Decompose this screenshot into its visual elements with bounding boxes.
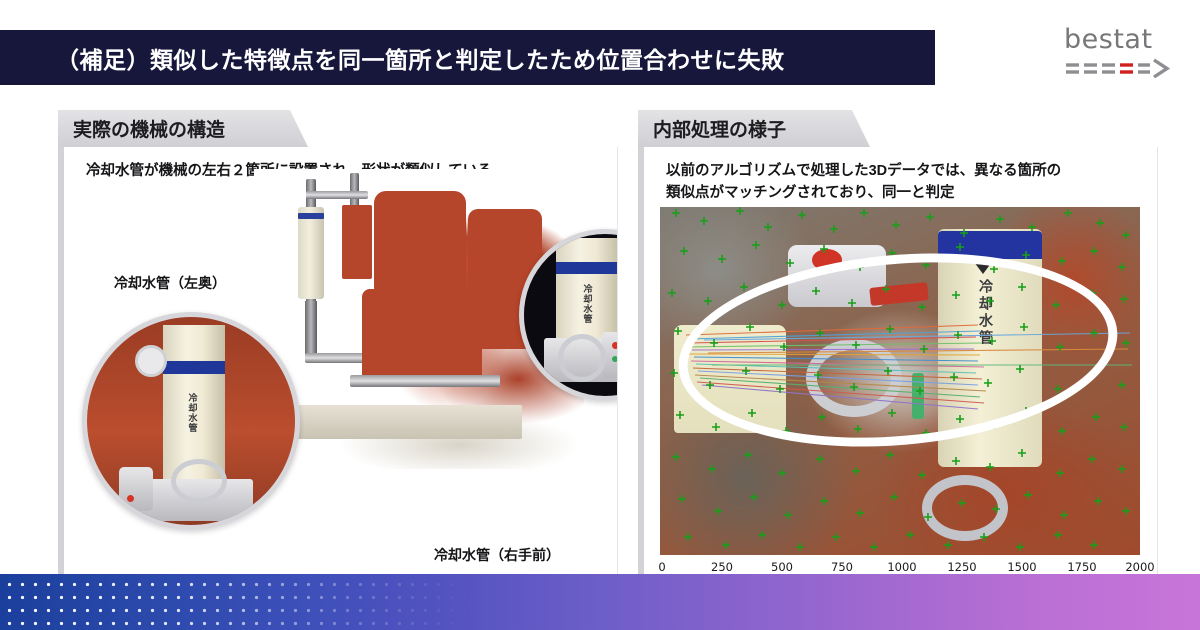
panel-left-tab: 実際の機械の構造 xyxy=(58,110,308,147)
axis-tick-2000: 2000 xyxy=(1125,560,1154,574)
panel-right-note: 以前のアルゴリズムで処理した3Dデータでは、異なる箇所の 類似点がマッチングされ… xyxy=(644,147,1157,205)
panel-internal-processing: 内部処理の様子 以前のアルゴリズムで処理した3Dデータでは、異なる箇所の 類似点… xyxy=(638,110,1158,594)
viewer-tank-kanji: 冷却水管 xyxy=(976,279,996,347)
machine-tank-band xyxy=(298,213,324,219)
viewer-handwheel-b xyxy=(922,475,1008,541)
viewer-red-cap xyxy=(812,249,842,271)
callout-label-left-rear: 冷却水管（左奥） xyxy=(114,273,226,293)
machine-pipe-horizontal-b xyxy=(305,353,365,363)
slide-root: （補足）類似した特徴点を同一箇所と判定したため位置合わせに失敗 bestat xyxy=(0,0,1200,630)
slide-title: （補足）類似した特徴点を同一箇所と判定したため位置合わせに失敗 xyxy=(56,41,785,75)
pointcloud-viewer[interactable]: 冷却水管 xyxy=(660,207,1140,555)
axis-tick-750: 750 xyxy=(831,560,853,574)
machine-base-plate xyxy=(272,405,522,439)
machine-pipe-horizontal-c xyxy=(350,375,500,387)
axis-tick-1250: 1250 xyxy=(947,560,976,574)
machine-red-block-b xyxy=(374,191,466,299)
magnifier-right-handwheel xyxy=(558,334,606,382)
machine-red-block-a xyxy=(342,205,372,279)
machine-photo-composition: 冷却水管 冷却水管 xyxy=(64,147,617,593)
panel-machine-structure: 実際の機械の構造 冷却水管が機械の左右２箇所に設置され、形状が類似している xyxy=(58,110,618,594)
logo-wordmark: bestat xyxy=(1064,26,1176,53)
magnifier-left-tank-kanji: 冷却水管 xyxy=(187,393,196,459)
machine-pipe-horizontal-a xyxy=(306,191,368,199)
brand-logo: bestat xyxy=(1064,26,1176,78)
viewer-tank-right-band xyxy=(938,231,1042,259)
magnifier-left-gauge-icon xyxy=(135,345,167,377)
pointcloud-scene: 冷却水管 xyxy=(660,207,1140,555)
viewer-handwheel-a xyxy=(806,339,902,417)
magnifier-right-content: 冷却水管 xyxy=(524,234,618,396)
axis-tick-1000: 1000 xyxy=(887,560,916,574)
magnifier-left-content: 冷却水管 xyxy=(87,317,295,525)
axis-tick-250: 250 xyxy=(711,560,733,574)
magnifier-right-front: 冷却水管 xyxy=(519,229,618,401)
machine-red-block-c xyxy=(362,289,482,385)
panel-right-body: 以前のアルゴリズムで処理した3Dデータでは、異なる箇所の 類似点がマッチングされ… xyxy=(638,147,1158,594)
machine-pipe-vertical-c xyxy=(305,301,317,361)
magnifier-left-red-indicator xyxy=(127,495,134,502)
panel-right-tab-label: 内部処理の様子 xyxy=(653,115,786,142)
callout-label-right-front: 冷却水管（右手前） xyxy=(434,545,560,565)
axis-tick-1750: 1750 xyxy=(1067,560,1096,574)
magnifier-right-green-indicator xyxy=(612,356,618,362)
axis-tick-500: 500 xyxy=(771,560,793,574)
magnifier-left-tank-band xyxy=(163,361,225,374)
machine-cooling-tank xyxy=(298,207,324,299)
viewer-green-bar xyxy=(912,373,924,419)
axis-tick-1500: 1500 xyxy=(1007,560,1036,574)
magnifier-right-tank-band xyxy=(556,262,618,274)
panel-left-tab-label: 実際の機械の構造 xyxy=(73,115,225,142)
magnifier-left-rear: 冷却水管 xyxy=(82,312,300,530)
slide-title-bar: （補足）類似した特徴点を同一箇所と判定したため位置合わせに失敗 xyxy=(0,30,935,85)
footer-halftone-pattern xyxy=(0,574,470,630)
axis-tick-0: 0 xyxy=(658,560,665,574)
magnifier-right-red-indicator xyxy=(612,342,618,349)
dashed-arrow-icon xyxy=(1064,58,1172,78)
magnifier-left-actuator xyxy=(119,467,153,511)
panel-left-body: 冷却水管が機械の左右２箇所に設置され、形状が類似している xyxy=(58,147,618,594)
magnifier-left-handwheel xyxy=(171,459,227,503)
viewer-tank-marker-triangle-icon xyxy=(974,262,992,274)
viewer-tank-left xyxy=(674,325,786,433)
footer-gradient-bar xyxy=(0,574,1200,630)
panel-right-tab: 内部処理の様子 xyxy=(638,110,870,147)
